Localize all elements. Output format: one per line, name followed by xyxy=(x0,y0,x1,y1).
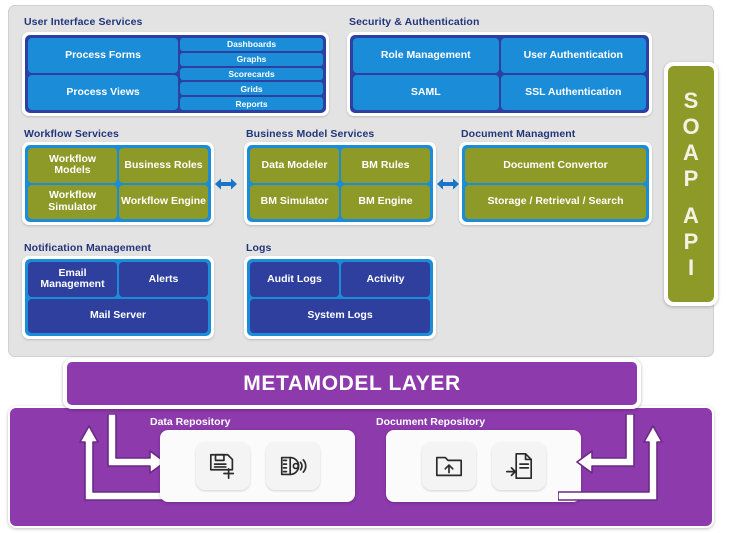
cell-user-authentication[interactable]: User Authentication xyxy=(501,38,647,73)
section-label-security-authentication: Security & Authentication xyxy=(349,16,479,28)
metamodel-layer-label: METAMODEL LAYER xyxy=(67,362,637,405)
cell-process-views[interactable]: Process Views xyxy=(28,75,178,110)
group-security-authentication: Role Management User Authentication SAML… xyxy=(347,32,652,116)
section-label-user-interface-services: User Interface Services xyxy=(24,16,142,28)
cell-bm-rules[interactable]: BM Rules xyxy=(341,148,430,183)
section-label-notification-management: Notification Management xyxy=(24,242,151,254)
cell-mail-server[interactable]: Mail Server xyxy=(28,299,208,334)
section-label-logs: Logs xyxy=(246,242,271,254)
soap-api-panel[interactable]: S O A P A P I xyxy=(664,62,718,306)
connector-business-model-to-document-management xyxy=(437,176,459,192)
cell-graphs[interactable]: Graphs xyxy=(180,53,323,66)
metamodel-layer-panel[interactable]: METAMODEL LAYER xyxy=(63,358,641,409)
cell-bm-simulator[interactable]: BM Simulator xyxy=(250,185,339,220)
soap-letter-o: O xyxy=(682,114,699,139)
connector-workflow-to-business-model xyxy=(215,176,237,192)
cell-role-management[interactable]: Role Management xyxy=(353,38,499,73)
services-panel: User Interface Services Process Forms Pr… xyxy=(8,5,714,357)
cell-dashboards[interactable]: Dashboards xyxy=(180,38,323,51)
cell-data-modeler[interactable]: Data Modeler xyxy=(250,148,339,183)
architecture-diagram: User Interface Services Process Forms Pr… xyxy=(0,0,730,533)
repository-panel: Data Repository xyxy=(8,406,714,528)
cell-reports[interactable]: Reports xyxy=(180,97,323,110)
section-label-document-management: Document Managment xyxy=(461,128,575,140)
group-notification-management: Email Management Alerts Mail Server xyxy=(22,256,214,339)
cell-process-forms[interactable]: Process Forms xyxy=(28,38,178,73)
soap-letter-a: A xyxy=(683,140,699,165)
group-workflow-services: Workflow Models Business Roles Workflow … xyxy=(22,142,214,225)
cell-scorecards[interactable]: Scorecards xyxy=(180,68,323,81)
cell-system-logs[interactable]: System Logs xyxy=(250,299,430,334)
group-user-interface-services: Process Forms Process Views Dashboards G… xyxy=(22,32,329,116)
cell-alerts[interactable]: Alerts xyxy=(119,262,208,297)
card-document-repository xyxy=(386,430,581,502)
section-label-workflow-services: Workflow Services xyxy=(24,128,119,140)
soap-letter-p2: P xyxy=(684,229,699,254)
cell-storage-retrieval-search[interactable]: Storage / Retrieval / Search xyxy=(465,185,646,220)
connector-document-repository-arrows xyxy=(558,414,678,509)
cell-workflow-simulator[interactable]: Workflow Simulator xyxy=(28,185,117,220)
group-business-model-services: Data Modeler BM Rules BM Simulator BM En… xyxy=(244,142,436,225)
database-disc-icon[interactable] xyxy=(266,442,320,490)
cell-document-convertor[interactable]: Document Convertor xyxy=(465,148,646,183)
document-import-icon[interactable] xyxy=(492,442,546,490)
cell-bm-engine[interactable]: BM Engine xyxy=(341,185,430,220)
section-label-business-model-services: Business Model Services xyxy=(246,128,374,140)
soap-letter-s: S xyxy=(684,88,699,113)
group-logs: Audit Logs Activity System Logs xyxy=(244,256,436,339)
cell-workflow-engine[interactable]: Workflow Engine xyxy=(119,185,208,220)
folder-upload-icon[interactable] xyxy=(422,442,476,490)
cell-grids[interactable]: Grids xyxy=(180,82,323,95)
cell-email-management[interactable]: Email Management xyxy=(28,262,117,297)
label-data-repository: Data Repository xyxy=(150,416,231,428)
cell-ssl-authentication[interactable]: SSL Authentication xyxy=(501,75,647,110)
cell-workflow-models[interactable]: Workflow Models xyxy=(28,148,117,183)
soap-letter-p: P xyxy=(684,166,699,191)
cell-audit-logs[interactable]: Audit Logs xyxy=(250,262,339,297)
cell-business-roles[interactable]: Business Roles xyxy=(119,148,208,183)
label-document-repository: Document Repository xyxy=(376,416,485,428)
soap-letter-a2: A xyxy=(683,203,699,228)
card-data-repository xyxy=(160,430,355,502)
group-document-management: Document Convertor Storage / Retrieval /… xyxy=(459,142,652,225)
save-data-icon[interactable] xyxy=(196,442,250,490)
cell-saml[interactable]: SAML xyxy=(353,75,499,110)
cell-activity[interactable]: Activity xyxy=(341,262,430,297)
soap-letter-i: I xyxy=(688,255,694,280)
